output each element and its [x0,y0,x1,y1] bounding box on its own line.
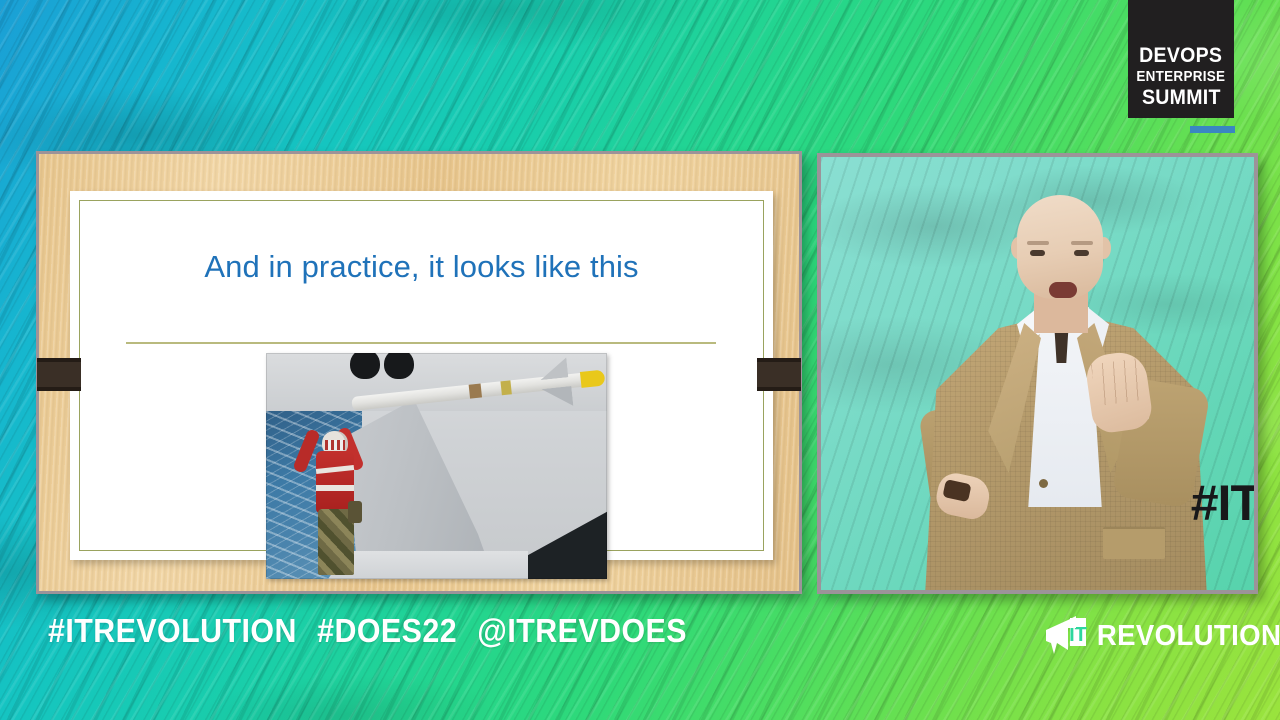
speaker-eye-right [1074,250,1089,256]
it-revolution-mark-icon: IT [1044,616,1088,656]
carrier-deck-missile-loading-photo [266,353,607,579]
logo-accent-bar [1190,126,1235,133]
speaker-mouth [1049,282,1077,298]
photo-border [266,353,607,579]
speaker-jacket-button [1039,479,1048,488]
speaker-overlay-hashtag: #IT [1191,478,1258,528]
speaker-eyebrow-right [1071,241,1093,245]
footer-handle-itrevdoes: @ITREVDOES [477,612,687,649]
logo-line-devops: DEVOPS [1139,45,1222,66]
slide-panel[interactable]: And in practice, it looks like this [36,151,802,594]
speaker-jacket-pocket [1103,527,1165,559]
slide-frame-bracket-left [37,358,81,391]
speaker-eye-left [1030,250,1045,256]
footer-hashtag-itrevolution: #ITREVOLUTION [48,612,297,649]
speaker-video-feed[interactable]: #IT [817,153,1258,594]
footer-hashtag-does22: #DOES22 [317,612,457,649]
speaker-eyebrow-left [1027,241,1049,245]
logo-line-summit: SUMMIT [1142,87,1221,108]
speaker-held-object [942,479,971,502]
slide-title: And in practice, it looks like this [70,249,773,285]
slide-content-area: And in practice, it looks like this [70,191,773,560]
slide-title-divider [126,342,716,344]
broadcast-stage: DEVOPS ENTERPRISE SUMMIT And in practice… [0,0,1280,720]
it-revolution-wordmark: REVOLUTION [1097,620,1280,653]
logo-line-enterprise: ENTERPRISE [1137,70,1226,85]
it-revolution-logo: IT REVOLUTION [1044,616,1280,656]
footer-hashtags: #ITREVOLUTION#DOES22@ITREVDOES [48,612,687,650]
speaker-figure [821,157,1254,590]
devops-enterprise-summit-logo: DEVOPS ENTERPRISE SUMMIT [1128,0,1234,118]
slide-frame-bracket-right [757,358,801,391]
